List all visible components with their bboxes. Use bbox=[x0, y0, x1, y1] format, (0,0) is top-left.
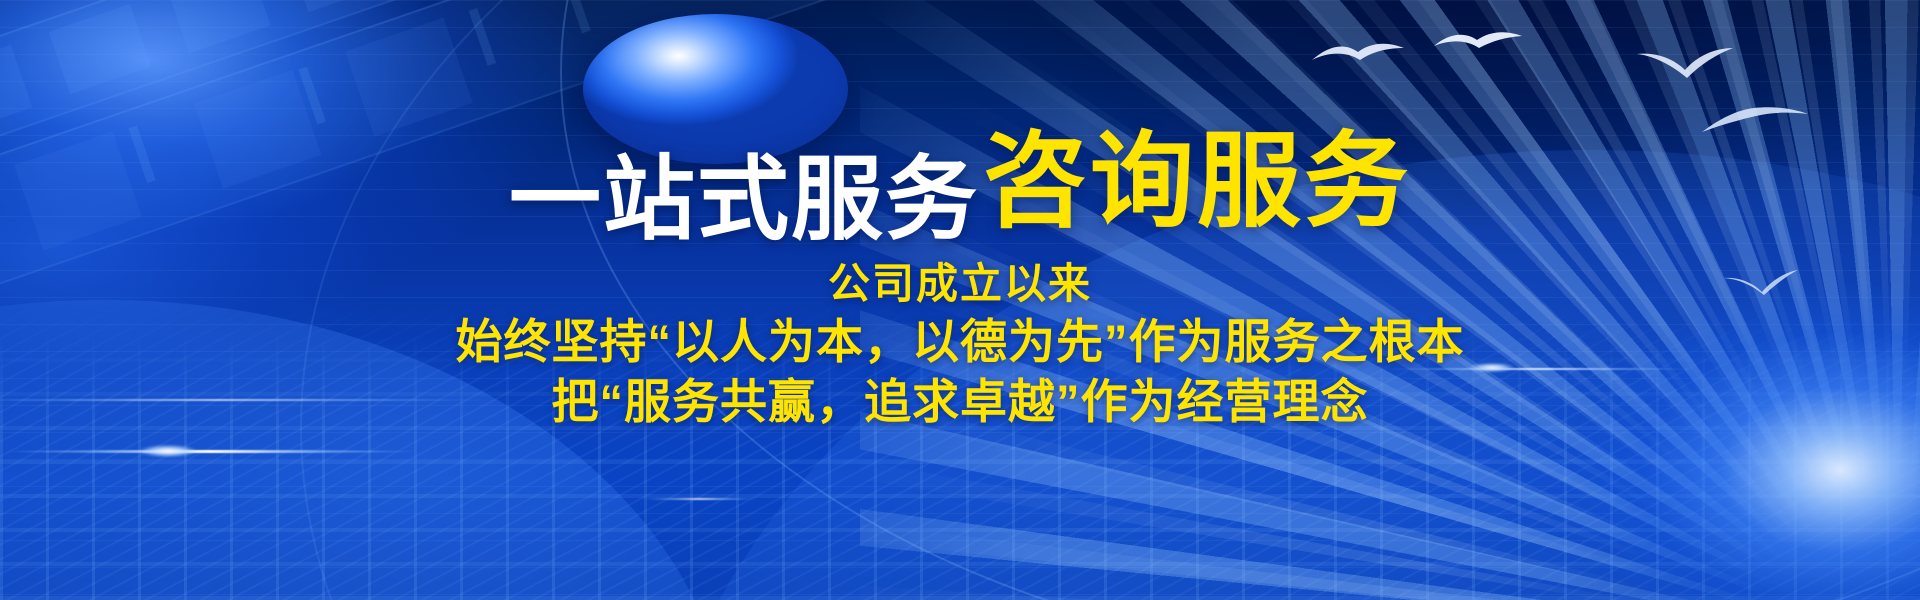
body-copy: 公司成立以来 始终坚持“以人为本，以德为先”作为服务之根本 把“服务共赢，追求卓… bbox=[0, 258, 1920, 430]
promo-banner: 一站式服务咨询服务 公司成立以来 始终坚持“以人为本，以德为先”作为服务之根本 … bbox=[0, 0, 1920, 600]
seagull-icon bbox=[1635, 42, 1735, 82]
headline-primary-text: 一站式服务 bbox=[509, 149, 979, 251]
body-line-3: 把“服务共赢，追求卓越”作为经营理念 bbox=[0, 373, 1920, 430]
lens-flare-streak bbox=[0, 450, 420, 453]
seagull-icon bbox=[1432, 28, 1524, 60]
headline-accent-text: 咨询服务 bbox=[983, 124, 1411, 240]
body-line-1: 公司成立以来 bbox=[0, 258, 1920, 309]
lens-flare-core bbox=[140, 445, 196, 457]
seagull-icon bbox=[1310, 38, 1406, 72]
lens-flare-streak bbox=[640, 498, 760, 500]
headline: 一站式服务咨询服务 bbox=[0, 96, 1920, 258]
body-line-2: 始终坚持“以人为本，以德为先”作为服务之根本 bbox=[0, 313, 1920, 370]
